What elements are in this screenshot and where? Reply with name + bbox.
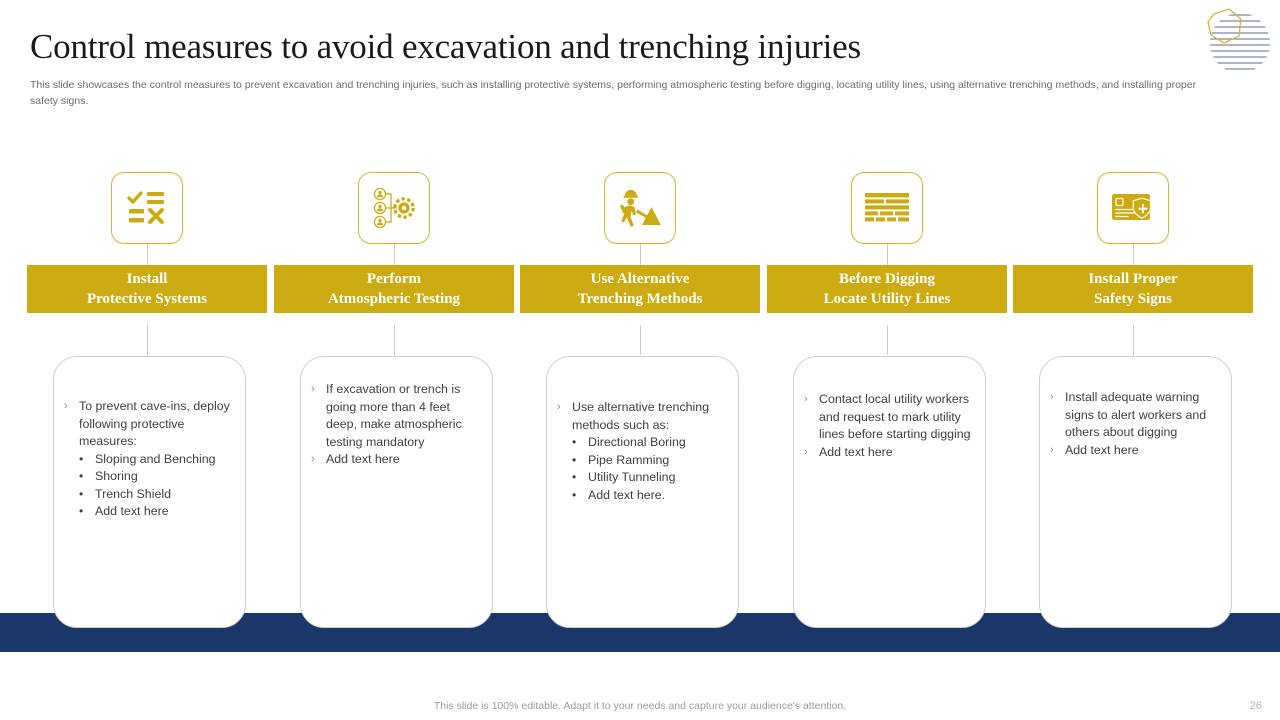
icon-box[interactable] [358,172,430,244]
list-item-text: Add text here [1065,442,1223,460]
content-card: › Use alternative trenching methods such… [546,356,739,628]
bullet-marker: › [557,399,572,434]
bullet-marker: › [311,451,326,469]
bullet-marker: • [572,469,588,487]
safety-sign-shield-icon [1112,192,1154,224]
list-item-text: Add text here. [588,487,730,505]
content-card: › Install adequate warning signs to aler… [1039,356,1232,628]
bullet-marker: • [79,468,95,486]
bullet-marker: › [804,391,819,444]
column-title-bar: Perform Atmospheric Testing [274,265,514,313]
column-title-bar: Before Digging Locate Utility Lines [767,265,1007,313]
footer-note: This slide is 100% editable. Adapt it to… [0,700,1280,712]
list-item: › Contact local utility workers and requ… [804,391,977,444]
list-item: • Shoring [64,468,237,486]
list-item: • Utility Tunneling [557,469,730,487]
columns-container: Install Protective Systems › To prevent … [0,0,1280,720]
list-item: • Add text here. [557,487,730,505]
column-title: Perform Atmospheric Testing [328,269,460,309]
bullet-marker: › [64,398,79,451]
list-item: › Install adequate warning signs to aler… [1050,389,1223,442]
page-number: 26 [1250,700,1262,712]
column-title: Before Digging Locate Utility Lines [824,269,951,309]
bullet-marker: • [79,503,95,521]
card-content: › Install adequate warning signs to aler… [1040,389,1231,459]
document-lines-icon [865,193,909,223]
connector-line [394,325,395,355]
bullet-marker: • [572,434,588,452]
list-item-text: If excavation or trench is going more th… [326,381,484,451]
list-item-text: Sloping and Benching [95,451,237,469]
list-item: › Use alternative trenching methods such… [557,399,730,434]
card-content: › Use alternative trenching methods such… [547,399,738,504]
list-item-text: Pipe Ramming [588,452,730,470]
column-use-alternative-trenching-methods: Use Alternative Trenching Methods › Use … [517,172,763,244]
card-content: › Contact local utility workers and requ… [794,391,985,461]
column-title: Use Alternative Trenching Methods [578,269,703,309]
column-title: Install Protective Systems [87,269,207,309]
list-item-text: Add text here [819,444,977,462]
list-item-text: Contact local utility workers and reques… [819,391,977,444]
card-content: › If excavation or trench is going more … [301,381,492,469]
slide: Control measures to avoid excavation and… [0,0,1280,720]
connector-line [1133,325,1134,355]
column-install-protective-systems: Install Protective Systems › To prevent … [24,172,270,244]
bullet-marker: • [572,487,588,505]
list-item-text: Utility Tunneling [588,469,730,487]
list-item-text: Directional Boring [588,434,730,452]
list-item-text: Shoring [95,468,237,486]
card-content: › To prevent cave-ins, deploy following … [54,398,245,521]
list-item: • Add text here [64,503,237,521]
column-title: Install Proper Safety Signs [1088,269,1177,309]
content-card: › If excavation or trench is going more … [300,356,493,628]
bullet-marker: • [572,452,588,470]
icon-box[interactable] [604,172,676,244]
connector-line [887,325,888,355]
bullet-marker: › [1050,442,1065,460]
column-before-digging-locate-utility-lines: Before Digging Locate Utility Lines › Co… [764,172,1010,244]
list-item-text: To prevent cave-ins, deploy following pr… [79,398,237,451]
list-item: › Add text here [1050,442,1223,460]
column-install-proper-safety-signs: Install Proper Safety Signs › Install ad… [1010,172,1256,244]
list-item-text: Use alternative trenching methods such a… [572,399,730,434]
column-title-bar: Install Protective Systems [27,265,267,313]
list-item: › Add text here [804,444,977,462]
list-item: › If excavation or trench is going more … [311,381,484,451]
list-item-text: Add text here [326,451,484,469]
list-item: • Pipe Ramming [557,452,730,470]
list-item-text: Install adequate warning signs to alert … [1065,389,1223,442]
list-item: • Directional Boring [557,434,730,452]
construction-worker-digging-icon [618,188,662,228]
column-title-bar: Install Proper Safety Signs [1013,265,1253,313]
list-item: › To prevent cave-ins, deploy following … [64,398,237,451]
icon-box[interactable] [111,172,183,244]
icon-box[interactable] [851,172,923,244]
list-item-text: Trench Shield [95,486,237,504]
content-card: › Contact local utility workers and requ… [793,356,986,628]
checklist-check-cross-icon [127,189,167,227]
list-item-text: Add text here [95,503,237,521]
column-title-bar: Use Alternative Trenching Methods [520,265,760,313]
bullet-marker: • [79,451,95,469]
icon-box[interactable] [1097,172,1169,244]
bullet-marker: › [311,381,326,451]
users-gear-workflow-icon [373,188,415,228]
content-card: › To prevent cave-ins, deploy following … [53,356,246,628]
bullet-marker: › [1050,389,1065,442]
connector-line [147,325,148,355]
bullet-marker: • [79,486,95,504]
connector-line [640,325,641,355]
bullet-marker: › [804,444,819,462]
gear-icon [395,199,413,217]
list-item: › Add text here [311,451,484,469]
column-perform-atmospheric-testing: Perform Atmospheric Testing › If excavat… [271,172,517,244]
list-item: • Sloping and Benching [64,451,237,469]
list-item: • Trench Shield [64,486,237,504]
